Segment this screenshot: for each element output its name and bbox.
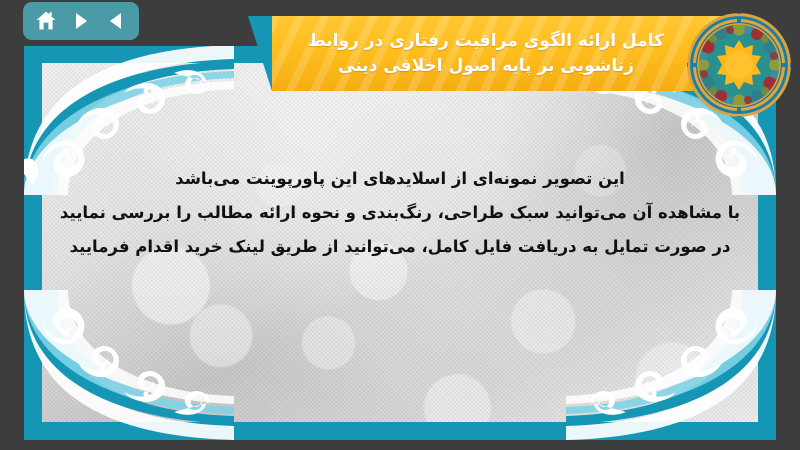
slide-viewer-app: این تصویر نمونه‌ای از اسلایدهای این پاور… xyxy=(0,0,800,450)
forward-arrow-icon xyxy=(70,10,92,32)
body-line-3: در صورت تمایل به دریافت فایل کامل، می‌تو… xyxy=(70,231,731,263)
previous-slide-button[interactable] xyxy=(101,6,131,36)
back-arrow-icon xyxy=(105,10,127,32)
body-line-2: با مشاهده آن می‌توانید سبک طراحی، رنگ‌بن… xyxy=(60,197,740,229)
slide-body-text: این تصویر نمونه‌ای از اسلایدهای این پاور… xyxy=(24,163,776,264)
next-slide-button[interactable] xyxy=(66,6,96,36)
home-button[interactable] xyxy=(31,6,61,36)
title-line-2: زناشویی بر پایه اصول اخلاقی دینی xyxy=(338,54,634,79)
body-line-1: این تصویر نمونه‌ای از اسلایدهای این پاور… xyxy=(175,163,625,195)
title-line-1: کامل ارائه الگوی مراقبت رفتاری در روابط xyxy=(308,29,664,54)
home-icon xyxy=(34,9,58,33)
slide-canvas[interactable]: این تصویر نمونه‌ای از اسلایدهای این پاور… xyxy=(24,45,776,440)
slide-title-banner: کامل ارائه الگوی مراقبت رفتاری در روابط … xyxy=(272,16,732,91)
navigation-controls xyxy=(23,2,139,40)
